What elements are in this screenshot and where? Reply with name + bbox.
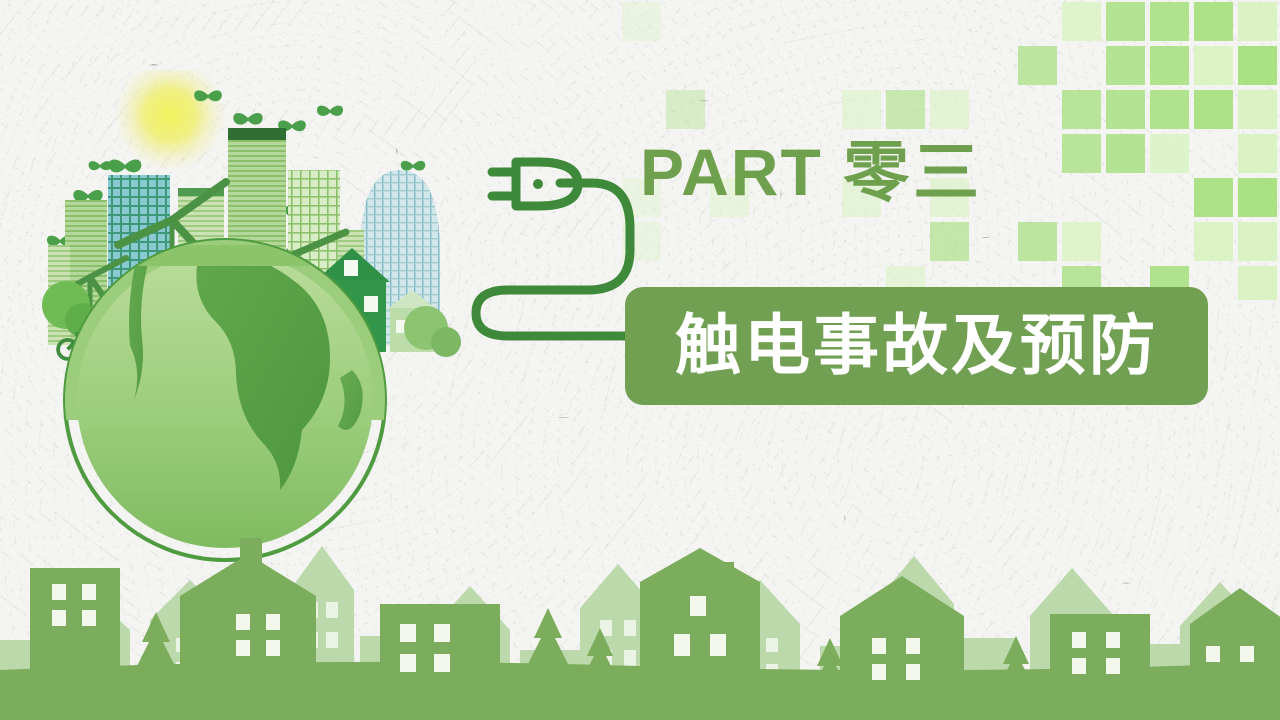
globe-shape <box>65 240 385 560</box>
slide-canvas: PART 零三 触电事故及预防 <box>0 0 1280 720</box>
sun-icon <box>115 70 225 170</box>
part-label-cn: 零三 <box>843 134 983 211</box>
village-skyline <box>0 520 1280 720</box>
eco-city-globe-illustration <box>30 70 480 570</box>
skyline-front-layer <box>0 538 1280 720</box>
part-title: PART 零三 <box>640 139 983 206</box>
part-label-en: PART <box>640 135 823 209</box>
section-title-text: 触电事故及预防 <box>675 313 1158 379</box>
section-title-banner: 触电事故及预防 <box>625 287 1208 405</box>
